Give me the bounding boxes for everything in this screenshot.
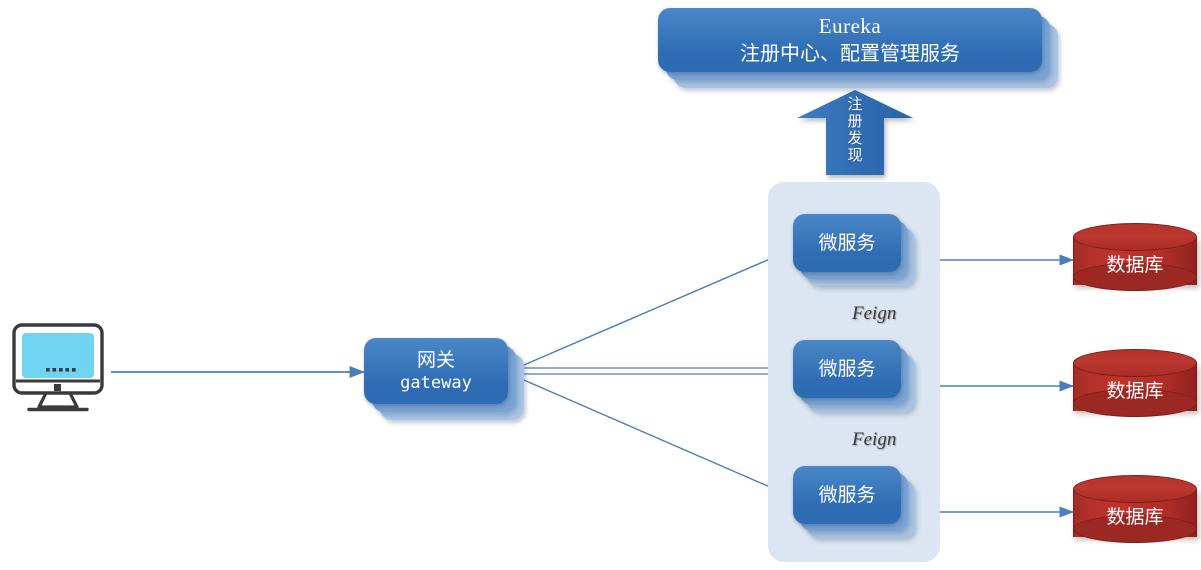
edge-gateway-to-microservice-1 xyxy=(510,249,793,371)
database-3-cylinder-top xyxy=(1073,475,1197,503)
microservice-node-2[interactable]: 微服务 xyxy=(793,340,915,412)
database-node-3[interactable]: 数据库 xyxy=(1073,475,1197,551)
gateway-box-front[interactable]: 网关 gateway xyxy=(364,338,508,404)
eureka-box-front[interactable]: Eureka 注册中心、配置管理服务 xyxy=(658,8,1042,72)
gateway-title: 网关 xyxy=(417,349,455,371)
database-node-2[interactable]: 数据库 xyxy=(1073,349,1197,425)
register-arrow-char-3: 发 xyxy=(842,130,868,147)
microservice-1-front[interactable]: 微服务 xyxy=(793,214,901,272)
database-1-cylinder-top xyxy=(1073,223,1197,251)
database-2-cylinder-top xyxy=(1073,349,1197,377)
microservice-node-1[interactable]: 微服务 xyxy=(793,214,915,286)
architecture-diagram-canvas: Eureka 注册中心、配置管理服务 注 册 发 现 微服务 微服务 微服务 xyxy=(0,0,1201,570)
gateway-node[interactable]: 网关 gateway xyxy=(364,338,524,420)
microservice-3-label: 微服务 xyxy=(818,484,875,506)
register-arrow-char-2: 册 xyxy=(842,113,868,130)
microservice-1-label: 微服务 xyxy=(818,232,875,254)
database-3-label: 数据库 xyxy=(1073,502,1197,529)
eureka-subtitle: 注册中心、配置管理服务 xyxy=(740,42,960,66)
feign-label-2: Feign xyxy=(852,429,896,451)
register-arrow-char-1: 注 xyxy=(842,96,868,113)
microservice-2-label: 微服务 xyxy=(818,358,875,380)
feign-label-1: Feign xyxy=(852,303,896,325)
eureka-node[interactable]: Eureka 注册中心、配置管理服务 xyxy=(658,8,1058,88)
database-1-label: 数据库 xyxy=(1073,250,1197,277)
microservice-node-3[interactable]: 微服务 xyxy=(793,466,915,538)
register-discover-arrow-label: 注 册 发 现 xyxy=(842,96,868,164)
eureka-title: Eureka xyxy=(819,14,881,39)
database-2-label: 数据库 xyxy=(1073,376,1197,403)
desktop-monitor-icon xyxy=(8,322,108,418)
edge-gateway-to-microservice-3 xyxy=(510,374,793,497)
edge-gateway-to-microservice-2 xyxy=(510,368,793,374)
gateway-subtitle: gateway xyxy=(400,373,472,393)
microservice-3-front[interactable]: 微服务 xyxy=(793,466,901,524)
microservice-2-front[interactable]: 微服务 xyxy=(793,340,901,398)
register-arrow-char-4: 现 xyxy=(842,147,868,164)
database-node-1[interactable]: 数据库 xyxy=(1073,223,1197,299)
